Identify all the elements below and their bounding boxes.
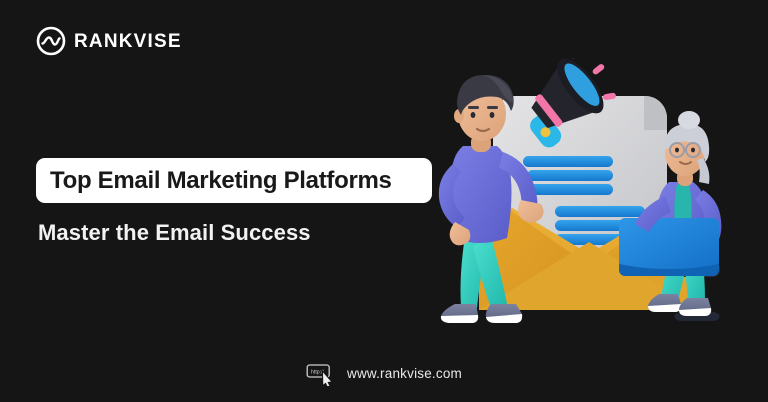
promo-banner: RANKVISE Top Email Marketing Platforms M… (0, 0, 768, 402)
email-marketing-illustration (437, 58, 768, 343)
wave-circle-icon (36, 26, 66, 56)
woman-eye-right (691, 148, 695, 153)
brand-logo[interactable]: RANKVISE (36, 26, 182, 56)
page-title: Top Email Marketing Platforms (50, 169, 392, 193)
illustration-svg (437, 58, 768, 343)
laptop (619, 218, 719, 276)
woman-eye-left (675, 148, 679, 153)
woman-hair-bun (678, 111, 700, 129)
brand-name: RANKVISE (74, 32, 182, 51)
footer-url-block: http:// www.rankvise.com (0, 362, 768, 386)
browser-url-cursor-icon: http:// (306, 362, 340, 386)
headline-title-box: Top Email Marketing Platforms (36, 158, 432, 203)
footer-url-text: www.rankvise.com (347, 367, 462, 381)
page-subtitle: Master the Email Success (38, 220, 311, 246)
woman-hair-strand (697, 158, 709, 184)
letter-fold (644, 96, 667, 130)
